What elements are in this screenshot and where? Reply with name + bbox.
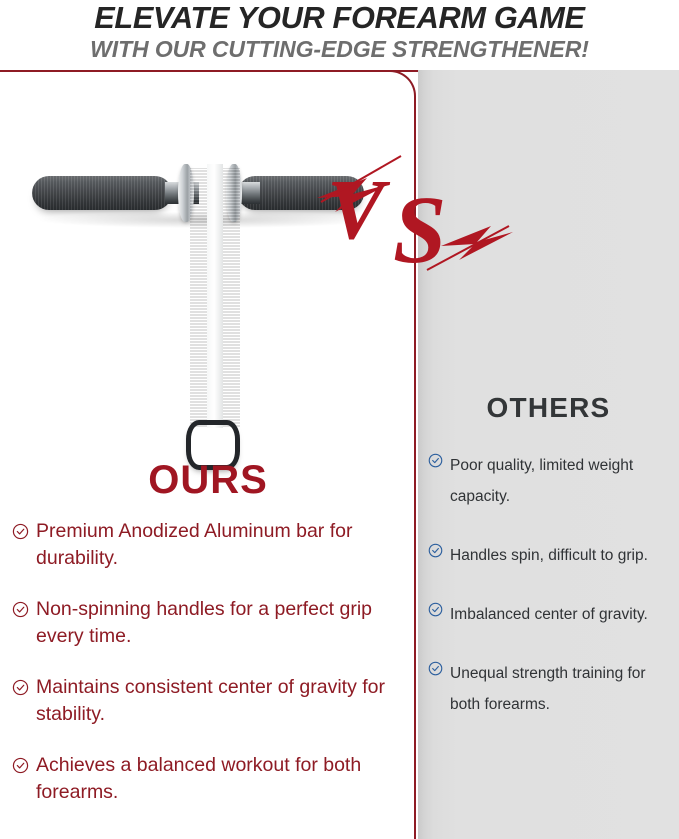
left-handle-grip xyxy=(32,176,172,210)
list-item-label: Unequal strength training for both forea… xyxy=(450,658,676,720)
ours-product-image xyxy=(0,72,416,382)
list-item-label: Imbalanced center of gravity. xyxy=(450,599,648,630)
others-column-heading: OTHERS xyxy=(418,392,679,424)
list-item-label: Non-spinning handles for a perfect grip … xyxy=(36,596,404,650)
page-subtitle: WITH OUR CUTTING-EDGE STRENGTHENER! xyxy=(0,36,679,62)
ours-panel: OURS Premium Anodized Aluminum bar for d… xyxy=(0,70,416,839)
page-title: ELEVATE YOUR FOREARM GAME xyxy=(3,1,675,35)
circle-check-icon xyxy=(12,523,29,540)
header-banner: ELEVATE YOUR FOREARM GAME WITH OUR CUTTI… xyxy=(0,0,679,68)
circle-check-icon xyxy=(12,757,29,774)
list-item: Unequal strength training for both forea… xyxy=(428,658,676,720)
strap-white-stripe xyxy=(207,164,223,428)
others-feature-list: Poor quality, limited weight capacity. H… xyxy=(428,450,676,748)
list-item: Handles spin, difficult to grip. xyxy=(428,540,676,571)
circle-check-icon xyxy=(428,602,443,617)
list-item: Poor quality, limited weight capacity. xyxy=(428,450,676,512)
others-panel: OTHERS Poor quality, limited weight capa… xyxy=(418,70,679,839)
list-item-label: Handles spin, difficult to grip. xyxy=(450,540,648,571)
list-item: Premium Anodized Aluminum bar for durabi… xyxy=(12,518,404,572)
circle-check-icon xyxy=(428,661,443,676)
ours-column-heading: OURS xyxy=(0,458,416,502)
comparison-panels: OURS Premium Anodized Aluminum bar for d… xyxy=(0,70,679,839)
list-item: Achieves a balanced workout for both for… xyxy=(12,752,404,806)
circle-check-icon xyxy=(12,601,29,618)
strap-right-edge xyxy=(223,168,240,428)
circle-check-icon xyxy=(428,453,443,468)
list-item: Non-spinning handles for a perfect grip … xyxy=(12,596,404,650)
circle-check-icon xyxy=(12,679,29,696)
list-item-label: Maintains consistent center of gravity f… xyxy=(36,674,404,728)
grip-texture xyxy=(32,176,172,210)
list-item-label: Achieves a balanced workout for both for… xyxy=(36,752,404,806)
list-item: Imbalanced center of gravity. xyxy=(428,599,676,630)
list-item-label: Poor quality, limited weight capacity. xyxy=(450,450,676,512)
list-item-label: Premium Anodized Aluminum bar for durabi… xyxy=(36,518,404,572)
circle-check-icon xyxy=(428,543,443,558)
strap-left-edge xyxy=(190,168,207,428)
list-item: Maintains consistent center of gravity f… xyxy=(12,674,404,728)
ours-feature-list: Premium Anodized Aluminum bar for durabi… xyxy=(12,518,404,830)
